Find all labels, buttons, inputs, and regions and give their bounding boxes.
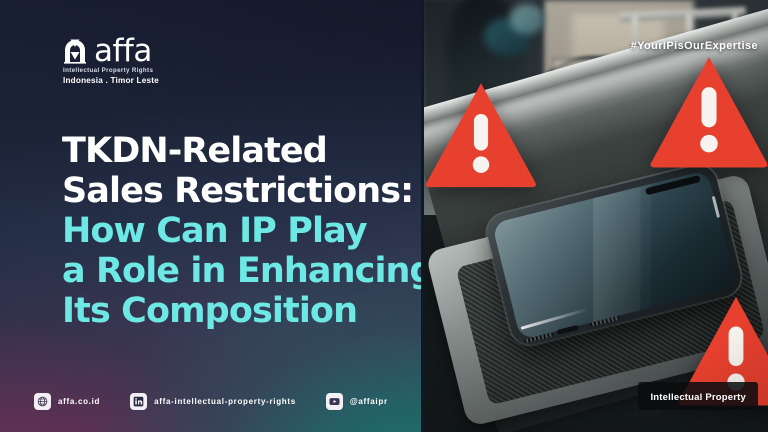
right-photo-panel: #YourIPisOurExpertise Intellectual Prope…	[424, 0, 768, 432]
warning-triangle-icon	[424, 78, 540, 190]
headline-line-5: Its Composition	[62, 292, 412, 332]
footer-label-linkedin: affa-intellectual-property-rights	[154, 397, 296, 406]
topic-badge-label: Intellectual Property	[650, 392, 746, 403]
brand-logo: affa Intellectual Property Rights Indone…	[62, 38, 159, 85]
warning-triangle-icon	[646, 52, 768, 170]
social-footer: affa.co.id affa-intellectual-property-ri…	[34, 393, 388, 410]
left-content-panel: affa Intellectual Property Rights Indone…	[0, 0, 424, 432]
footer-label-website: affa.co.id	[58, 397, 100, 406]
youtube-icon	[326, 393, 343, 410]
campaign-hashtag: #YourIPisOurExpertise	[631, 40, 758, 52]
footer-label-youtube: @affaipr	[350, 397, 388, 406]
headline-line-1: TKDN-Related	[62, 132, 412, 172]
logo-wordmark: affa	[94, 39, 152, 64]
security-scanner-photo: #YourIPisOurExpertise Intellectual Prope…	[424, 0, 768, 432]
linkedin-icon	[130, 393, 147, 410]
headline-line-2: Sales Restrictions:	[62, 172, 412, 212]
photo-person-glove	[510, 4, 544, 34]
footer-item-website[interactable]: affa.co.id	[34, 393, 100, 410]
headline-block: TKDN-Related Sales Restrictions: How Can…	[62, 132, 412, 331]
footer-item-linkedin[interactable]: affa-intellectual-property-rights	[130, 393, 296, 410]
footer-item-youtube[interactable]: @affaipr	[326, 393, 388, 410]
headline-line-3: How Can IP Play	[62, 212, 412, 252]
globe-icon	[34, 393, 51, 410]
topic-badge: Intellectual Property	[638, 382, 758, 410]
logo-regions: Indonesia . Timor Leste	[63, 76, 159, 85]
logo-row: affa	[62, 38, 159, 64]
headline-line-4: a Role in Enhancing	[62, 252, 412, 292]
affa-arch-logo-icon	[62, 38, 88, 64]
promo-slide: affa Intellectual Property Rights Indone…	[0, 0, 768, 432]
panel-divider	[421, 0, 424, 432]
logo-tagline: Intellectual Property Rights	[63, 67, 159, 74]
